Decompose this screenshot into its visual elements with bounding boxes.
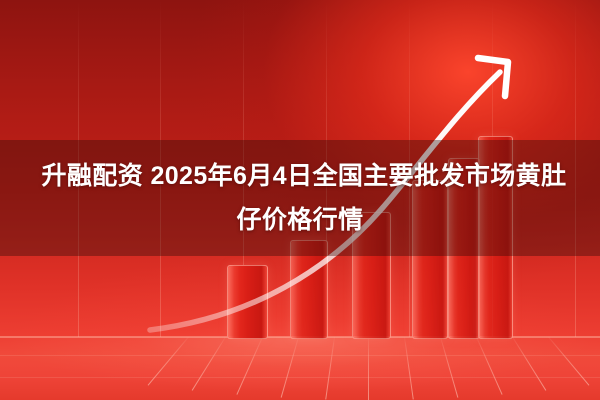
title-line-2: 仔价格行情 xyxy=(236,199,363,241)
title-line-1: 升融配资 2025年6月4日全国主要批发市场黄肚 xyxy=(34,155,567,197)
chart-bar xyxy=(227,265,268,339)
banner-image: 升融配资 2025年6月4日全国主要批发市场黄肚 仔价格行情 xyxy=(0,0,600,400)
page-title: 升融配资 2025年6月4日全国主要批发市场黄肚 仔价格行情 xyxy=(0,140,600,256)
